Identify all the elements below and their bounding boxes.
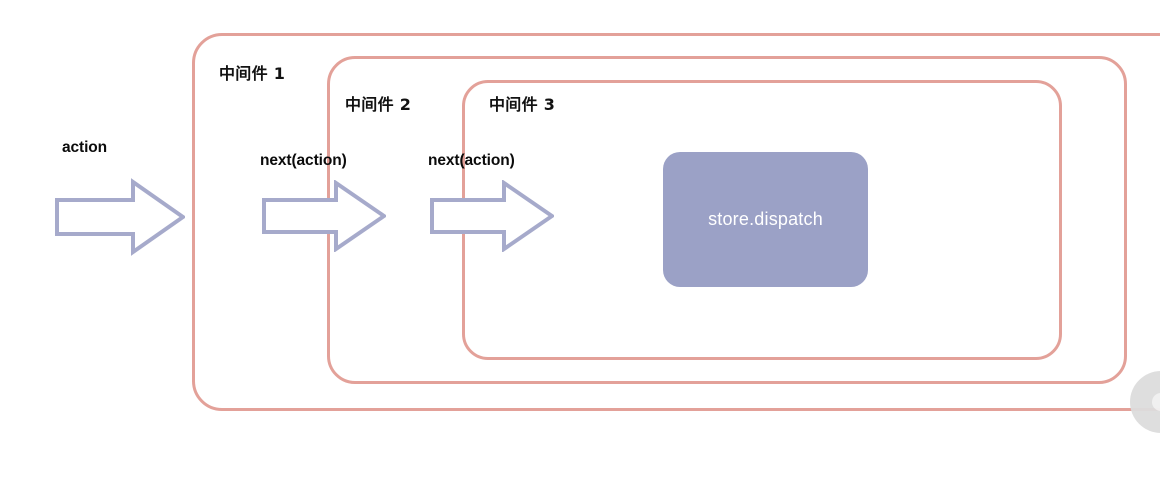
store-dispatch-label: store.dispatch — [708, 209, 823, 230]
middleware-box-1-label: 中间件 1 — [219, 60, 285, 84]
store-dispatch-box: store.dispatch — [663, 152, 868, 287]
arrow-right-outline-icon — [55, 178, 185, 256]
arrow-2-label: next(action) — [260, 152, 347, 170]
arrow-3-label: next(action) — [428, 152, 515, 170]
arrow-right-outline-icon — [262, 180, 386, 252]
middleware-box-2-label: 中间件 2 — [345, 91, 411, 115]
middleware-box-3-label: 中间件 3 — [489, 91, 555, 115]
diagram-canvas: 中间件 1 中间件 2 中间件 3 action next(action) ne… — [0, 0, 1160, 498]
arrow-1-label: action — [62, 139, 107, 157]
arrow-right-outline-icon — [430, 180, 554, 252]
